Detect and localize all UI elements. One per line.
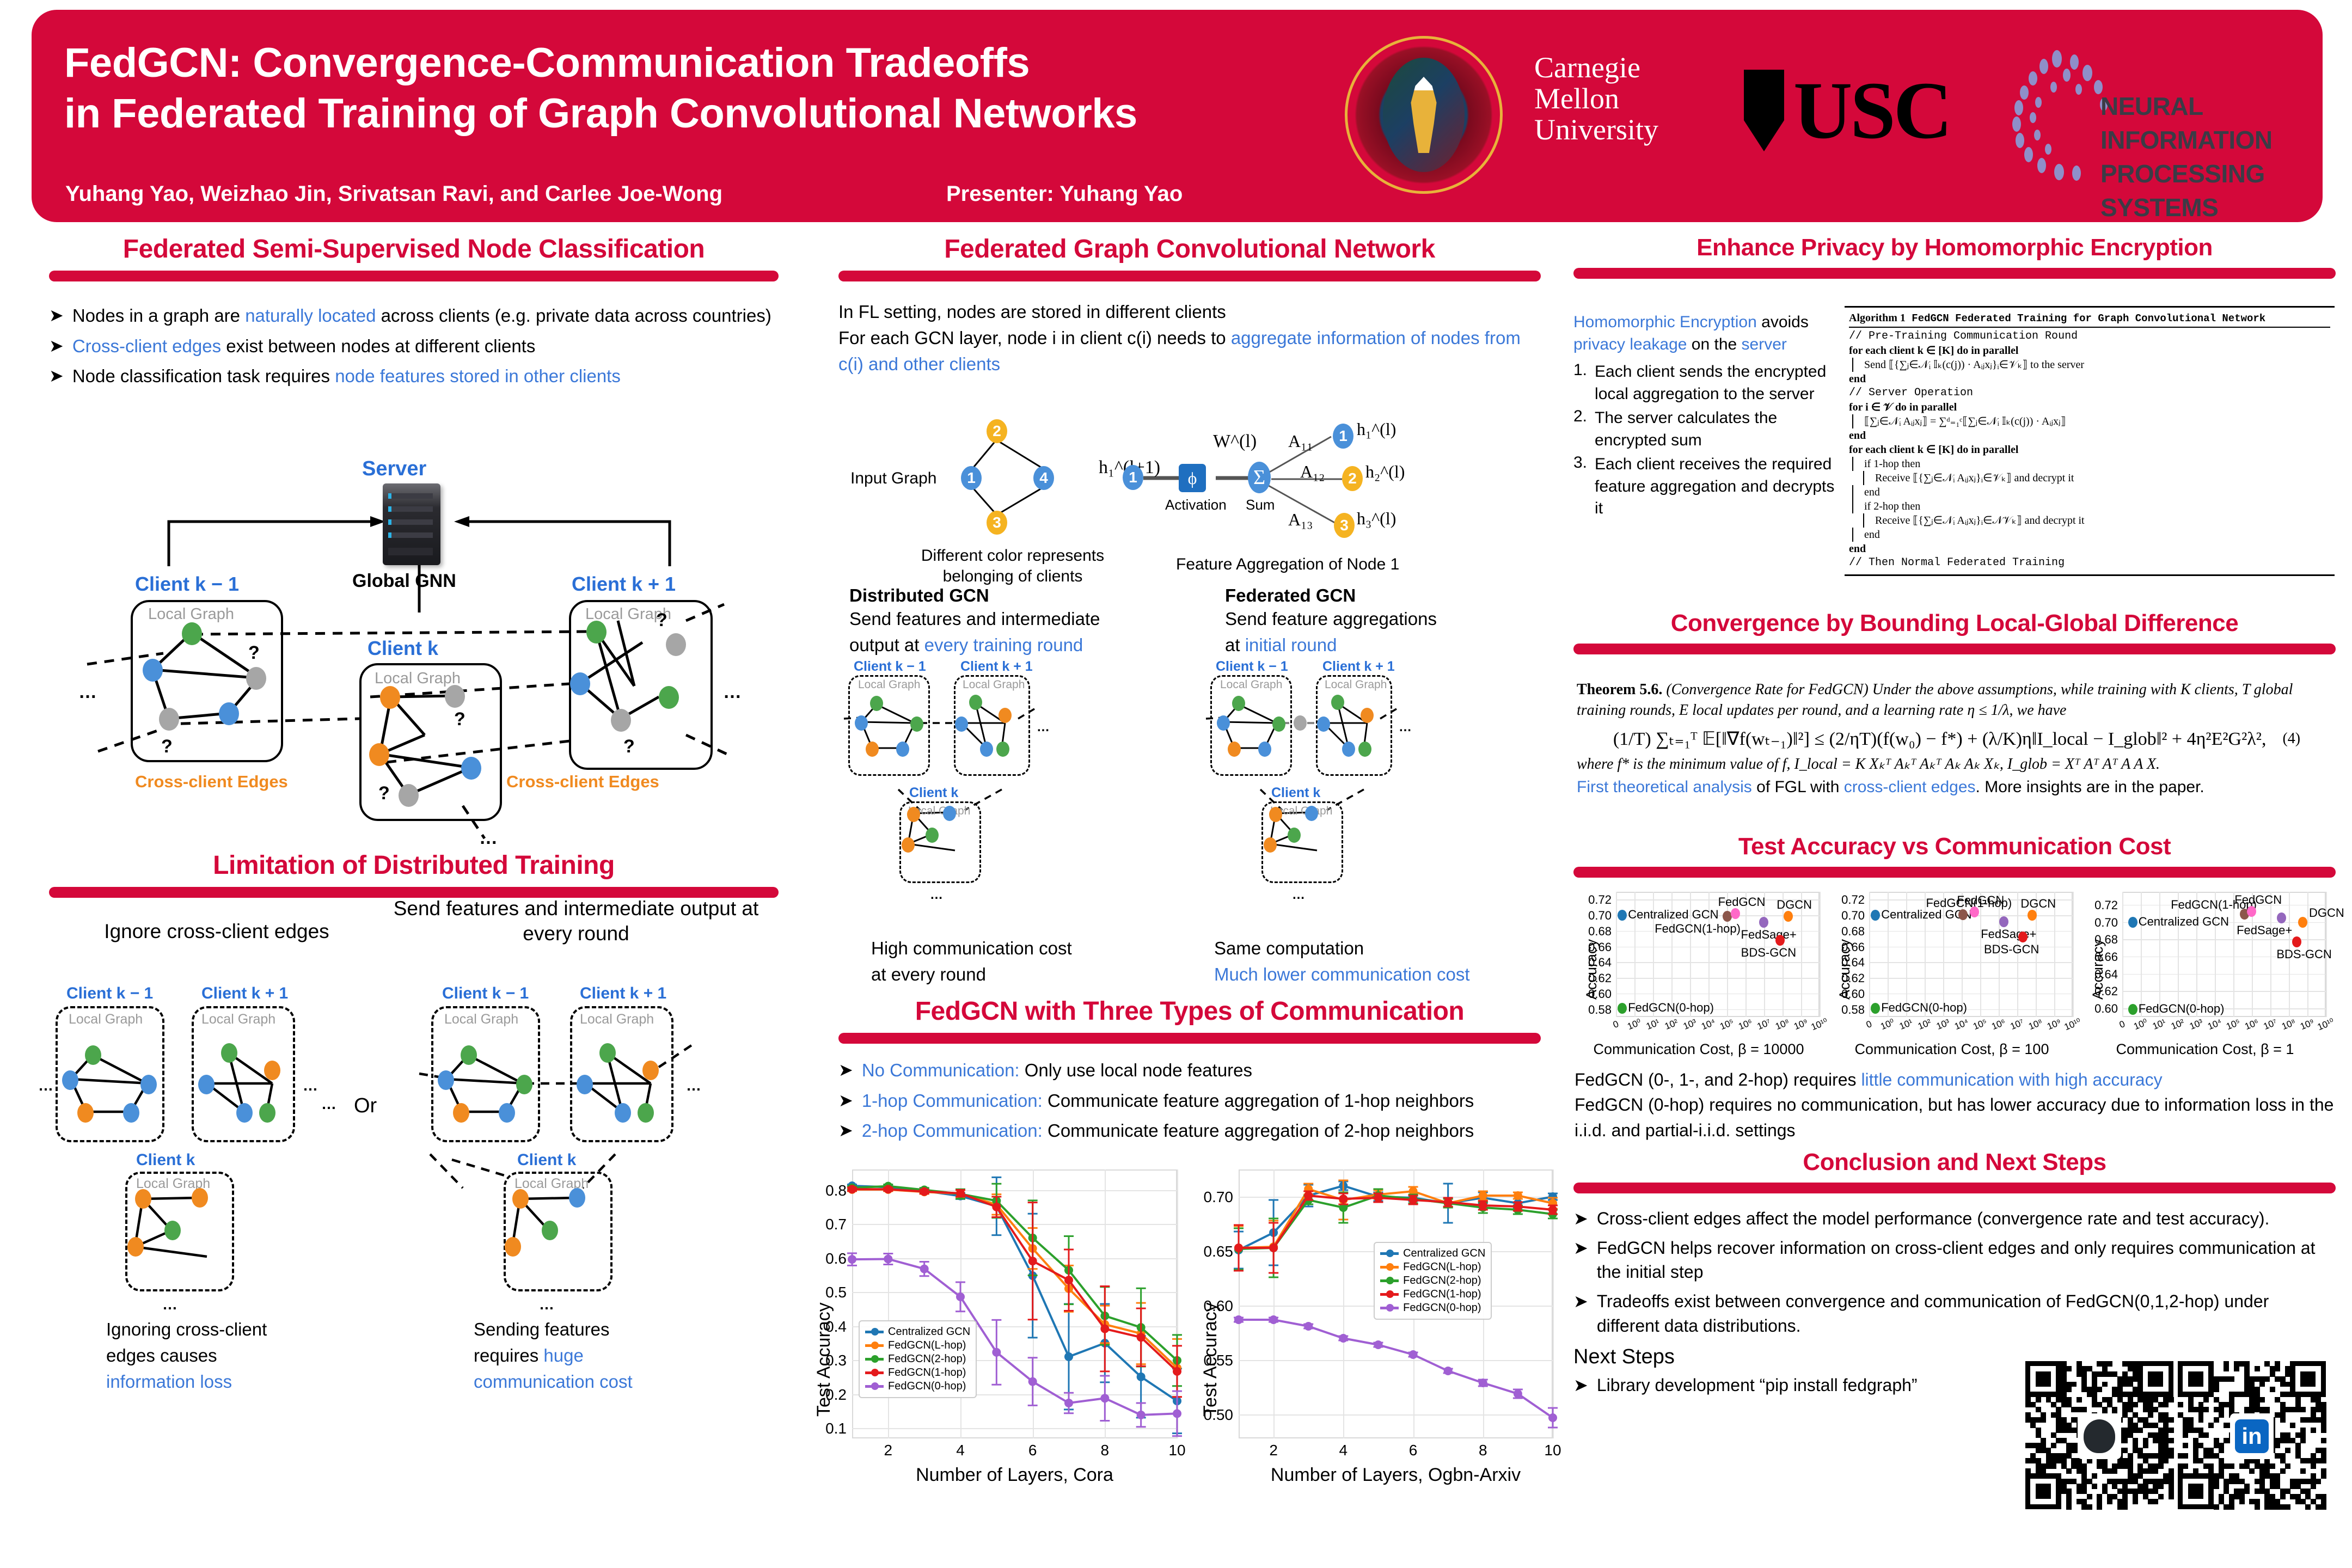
legend-item: Centralized GCN [1380, 1247, 1485, 1260]
weight-label: W^(l) [1213, 431, 1257, 452]
linkedin-icon: in [2230, 1413, 2274, 1459]
graph-node [1342, 742, 1355, 757]
graph-node [246, 667, 266, 690]
gridline-y [2122, 974, 2326, 975]
algorithm-line: end [1849, 428, 2330, 443]
chart-cora: 0.10.20.30.40.50.60.70.8246810Centralize… [800, 1160, 1187, 1497]
gridline-y [1239, 1197, 1553, 1198]
graph-node-aggregated [1294, 715, 1307, 731]
x-tick-label: 10⁰ [1877, 1016, 1897, 1033]
gridline-y [1869, 947, 2073, 948]
algorithm-line: end [1852, 485, 2330, 499]
a12-label: A₁₂ [1300, 462, 1325, 482]
legend-marker [1380, 1252, 1399, 1255]
gridline-y [1616, 978, 1820, 979]
section-title-convergence: Convergence by Bounding Local-Global Dif… [1573, 610, 2336, 637]
graph-node [85, 1045, 101, 1065]
section-divider [838, 271, 1541, 281]
legend-item: FedGCN(L-hop) [1380, 1261, 1485, 1273]
graph-node [135, 1189, 151, 1209]
gridline-y [1239, 1360, 1553, 1361]
gridline-x [1177, 1169, 1178, 1438]
step-number: 3. [1573, 454, 1587, 520]
local-graph-label: Local Graph [1220, 678, 1282, 691]
legend-label: Centralized GCN [1403, 1247, 1485, 1260]
y-tick-label: 0.72 [2080, 898, 2118, 912]
federated-gcn-block: Federated GCN Send feature aggregations … [1225, 585, 1552, 658]
ellipsis: … [162, 1296, 179, 1313]
theorem-block: Theorem 5.6. (Convergence Rate for FedGC… [1577, 679, 2337, 797]
client-label-k-plus-1: Client k + 1 [960, 659, 1033, 675]
list-item: ➤ FedGCN helps recover information on cr… [1573, 1236, 2336, 1284]
algorithm-line: if 1-hop then [1852, 457, 2330, 471]
legend-item: FedGCN(2-hop) [865, 1353, 970, 1365]
gridline-y [1869, 978, 2073, 979]
option-left-heading: Ignore cross-client edges [64, 920, 369, 943]
legend-label: FedGCN(2-hop) [888, 1353, 966, 1365]
legend-marker [865, 1344, 884, 1347]
poster-title-line2: in Federated Training of Graph Convoluti… [64, 89, 1344, 139]
legend-label: FedGCN(2-hop) [1403, 1275, 1481, 1287]
scatter-point-label: BDS-GCN [2276, 947, 2331, 961]
scatter-point-label: BDS-GCN [1741, 946, 1796, 960]
scatter-point-label: FedGCN [1718, 895, 1766, 909]
neurips-wordmark: NEURAL INFORMATION PROCESSING SYSTEMS [2100, 89, 2323, 222]
y-tick-label: 0.68 [1827, 924, 1865, 939]
graph-node [159, 708, 179, 731]
caption-line: edges causes [106, 1343, 335, 1369]
graph-node [870, 696, 883, 711]
gcn-node-3: 3 [987, 511, 1007, 535]
caption-line: Ignoring cross-client [106, 1316, 335, 1343]
ellipsis: … [723, 682, 743, 703]
x-tick-label: 10⁵ [1970, 1016, 1990, 1033]
scatter-point [2128, 917, 2137, 928]
y-axis-label: Accuracy [1836, 939, 1853, 1000]
client-label-k-minus-1: Client k − 1 [66, 984, 153, 1003]
x-tick-label: 10⁷ [1754, 1016, 1774, 1033]
github-icon [2078, 1413, 2121, 1459]
theorem-statement: Theorem 5.6. (Convergence Rate for FedGC… [1577, 679, 2337, 720]
scatter-point-label: FedGCN(1-hop) [1655, 922, 1741, 936]
x-axis-label: Number of Layers, Cora [852, 1465, 1177, 1486]
scatter-point-label: FedGCN [1957, 893, 2004, 908]
scatter-point-label: BDS-GCN [1984, 942, 2039, 957]
theorem-where: where f* is the minimum value of f, I_lo… [1577, 754, 2337, 775]
algorithm-line: Receive ⟦{∑ⱼ∈𝒩ᵢ Aᵢⱼxⱼ}ᵢ∈𝒩𝒱ₖ⟧ and decrypt… [1863, 513, 2330, 528]
algorithm-line: for each client k ∈ [K] do in parallel [1849, 443, 2330, 457]
list-item: ➤ Cross-client edges exist between nodes… [49, 334, 779, 359]
chart-legend: Centralized GCNFedGCN(L-hop)FedGCN(2-hop… [1374, 1242, 1492, 1320]
step-number: 2. [1573, 407, 1587, 451]
client-label-k-plus-1: Client k + 1 [572, 573, 676, 596]
note-line: Same computation [1214, 935, 1557, 961]
cmu-wordmark-logo: Carnegie Mellon University [1534, 52, 1658, 146]
gridline-x [2270, 892, 2271, 1017]
bullet-text-highlight: naturally located [245, 305, 376, 326]
h3-label: h₃^(l) [1357, 509, 1396, 529]
limitation-section: Limitation of Distributed Training [49, 850, 779, 898]
graph-node [638, 1103, 654, 1123]
graph-node [907, 807, 920, 822]
bullet-arrow-icon: ➤ [49, 303, 64, 328]
y-tick-label: 0.65 [1187, 1243, 1233, 1260]
x-tick-label: 10⁶ [2241, 1016, 2262, 1033]
legend-marker [1380, 1293, 1399, 1296]
graph-node [219, 702, 239, 725]
x-tick-label: 10⁶ [1735, 1016, 1755, 1033]
client-label-k-minus-1: Client k − 1 [442, 984, 529, 1003]
graph-node [221, 1043, 237, 1063]
section-divider [1573, 644, 2336, 654]
bullet-text: Only use local node features [1020, 1060, 1252, 1080]
bullet-arrow-icon: ➤ [838, 1118, 853, 1143]
ellipsis: … [321, 1095, 338, 1113]
scatter-point [1784, 911, 1793, 922]
local-graph-label: Local Graph [375, 670, 461, 688]
bullet-text: Communicate feature aggregation of 1-hop… [1043, 1091, 1474, 1111]
list-item: ➤ 1-hop Communication: Communicate featu… [838, 1088, 1541, 1113]
gcn-out-node-1: 1 [1123, 465, 1143, 490]
gcn-in-node-1: 1 [1333, 424, 1353, 449]
list-item: ➤ Cross-client edges affect the model pe… [1573, 1206, 2336, 1230]
legend-marker [865, 1331, 884, 1333]
bullet-arrow-icon: ➤ [49, 364, 64, 389]
gridline-x [2122, 892, 2123, 1017]
sum-node: Σ [1248, 462, 1271, 493]
legend-item: FedGCN(1-hop) [865, 1367, 970, 1379]
gridline-y [852, 1428, 1177, 1429]
gridline-y [1239, 1414, 1553, 1416]
usc-logo: USC [1741, 70, 1950, 151]
gridline-x [1869, 892, 1870, 1017]
fgcn-intro-line2: For each GCN layer, node i in client c(i… [838, 325, 1541, 377]
graph-node [1317, 716, 1330, 732]
federated-gcn-line1: Send feature aggregations [1225, 606, 1552, 632]
graph-node [599, 1043, 616, 1063]
or-label: Or [354, 1094, 377, 1118]
x-tick-label: 10⁷ [2260, 1016, 2280, 1033]
graph-node [569, 1188, 585, 1208]
x-tick-label: 10⁸ [2278, 1016, 2299, 1033]
section-title-limitation: Limitation of Distributed Training [49, 850, 779, 880]
column-1: Federated Semi-Supervised Node Classific… [49, 234, 779, 394]
server-icon [383, 483, 440, 565]
algorithm-line: ⟦∑ⱼ∈𝒩ᵢ Aᵢⱼxⱼ⟧ = ∑ᵈ₌₁ᶜ⟦∑ⱼ∈𝒩ᵢ 𝕀ₖ(c(j)) · A… [1852, 414, 2330, 428]
y-axis-label: Test Accuracy [813, 1303, 835, 1417]
bullet-text-pre: Nodes in a graph are [72, 305, 245, 326]
graph-node [1272, 716, 1285, 732]
gcn-node-4: 4 [1033, 466, 1054, 490]
poster-title: FedGCN: Convergence-Communication Tradeo… [64, 38, 1344, 139]
linkedin-qr-code[interactable]: in [2178, 1361, 2326, 1509]
graph-node [512, 1189, 529, 1209]
h2-label: h₂^(l) [1365, 462, 1405, 482]
graph-node [1264, 837, 1277, 853]
step-number: 1. [1573, 361, 1587, 405]
graph-node [902, 837, 915, 853]
algorithm-line: end [1849, 542, 2330, 556]
x-tick-label: 10 [1165, 1442, 1189, 1459]
gridline-x [1343, 1169, 1344, 1438]
x-tick-label: 10⁰ [1624, 1016, 1644, 1033]
x-tick-label: 10⁹ [2297, 1016, 2317, 1033]
section-divider [1573, 1183, 2336, 1193]
graph-node [123, 1103, 139, 1123]
y-tick-label: 0.70 [2080, 916, 2118, 930]
input-graph-label: Input Graph [850, 469, 936, 488]
graph-node [996, 742, 1009, 757]
graph-node [259, 1103, 275, 1123]
x-tick-label: 8 [1471, 1442, 1495, 1459]
gridline-x [1980, 892, 1981, 1017]
scatter-point-label: FedGCN(0-hop) [1881, 1001, 1967, 1015]
section-divider [49, 271, 779, 281]
distributed-gcn-block: Distributed GCN Send features and interm… [849, 585, 1198, 658]
chart-ogbn-arxiv: 0.500.550.600.650.70246810Centralized GC… [1187, 1160, 1563, 1497]
section-title-three-types: FedGCN with Three Types of Communication [838, 996, 1541, 1026]
x-tick-label: 10⁰ [2130, 1016, 2151, 1033]
scatter-point-label: FedSage+ [1981, 927, 2036, 941]
x-tick-label: 10⁴ [1951, 1016, 1971, 1033]
client-label-k: Client k [136, 1151, 195, 1169]
neurips-logo: NEURAL INFORMATION PROCESSING SYSTEMS [1992, 48, 2323, 184]
legend-label: FedGCN(1-hop) [888, 1367, 966, 1379]
list-item: 1. Each client sends the encrypted local… [1573, 361, 1835, 405]
federated-setting-diagram: Server Global GNN Client k − 1 Local Gra… [65, 457, 773, 838]
x-tick-label: 10⁸ [2025, 1016, 2045, 1033]
x-tick-label: 10¹ [2149, 1016, 2169, 1033]
algorithm-line: for i ∈ 𝒱 do in parallel [1849, 400, 2330, 414]
scatter-point-label: DGCN [1777, 898, 1812, 912]
bullet-arrow-icon: ➤ [1573, 1373, 1588, 1397]
equation-number: (4) [2282, 730, 2300, 748]
x-tick-label: 10 [1541, 1442, 1565, 1459]
chart-cost-beta-1: 0.600.620.640.660.680.700.72010⁰10¹10²10… [2080, 887, 2330, 1067]
note-line: at every round [871, 961, 1209, 988]
x-tick-label: 10³ [1680, 1016, 1700, 1033]
gcn-comparison-diagrams: Client k − 1 Local Graph Client k + 1 Lo… [838, 659, 1546, 909]
graph-node [577, 1075, 593, 1094]
federated-gcn-note: Same computation Much lower communicatio… [1214, 935, 1557, 988]
bullet-arrow-icon: ➤ [1573, 1289, 1588, 1337]
graph-node [445, 685, 465, 708]
limitation-caption-left: Ignoring cross-client edges causes infor… [106, 1316, 335, 1395]
ellipsis: … [1399, 720, 1413, 735]
bullet-text-pre: Node classification task requires [72, 366, 335, 386]
graph-node [955, 716, 968, 732]
local-graph-label: Local Graph [201, 1012, 275, 1027]
local-graph-label: Local Graph [858, 678, 920, 691]
cross-client-edges-label-right: Cross-client Edges [506, 772, 659, 792]
y-tick-label: 0.72 [1827, 893, 1865, 907]
theorem-equation-row: (1/T) ∑ₜ₌₁ᵀ 𝔼[‖∇f(wₜ₋₁)‖²] ≤ (2/ηT)(f(w₀… [1577, 728, 2337, 750]
step-text: Each client receives the required featur… [1595, 454, 1835, 520]
x-tick-label: 10² [1914, 1016, 1934, 1033]
local-graph-label: Local Graph [69, 1012, 143, 1027]
graph-node [77, 1103, 94, 1123]
ellipsis: … [303, 1077, 320, 1094]
graph-node [1331, 695, 1344, 710]
x-tick-label: 10⁴ [1698, 1016, 1718, 1033]
legend-label: FedGCN(1-hop) [1403, 1288, 1481, 1301]
client-label-k-plus-1: Client k + 1 [201, 984, 288, 1003]
x-tick-label: 10⁴ [2204, 1016, 2225, 1033]
list-item: ➤ No Communication: Only use local node … [838, 1058, 1541, 1083]
gridline-y [852, 1224, 1177, 1225]
gridline-y [852, 1190, 1177, 1191]
ellipsis: … [38, 1077, 55, 1094]
gridline-x [960, 1169, 961, 1438]
graph-node [182, 622, 202, 645]
caption-line-highlight: communication cost [474, 1369, 757, 1395]
graph-node [943, 806, 956, 821]
x-tick-label: 10¹ [1643, 1016, 1663, 1033]
graph-node [62, 1070, 78, 1090]
gcn-aggregation-diagram: Input Graph 2 1 4 3 Different color repr… [838, 397, 1546, 593]
x-tick-label: 4 [1331, 1442, 1355, 1459]
cross-client-edges-label-left: Cross-client Edges [135, 772, 288, 792]
section-divider [1573, 268, 2336, 279]
federated-gcn-title: Federated GCN [1225, 585, 1552, 606]
fgcn-intro-line1: In FL setting, nodes are stored in diffe… [838, 299, 1541, 325]
federated-gcn-line2: at [1225, 635, 1245, 655]
algorithm-line: end [1852, 528, 2330, 542]
gridline-x [1820, 892, 1821, 1017]
graph-node [866, 742, 879, 757]
unknown-marker: ? [454, 709, 465, 730]
algorithm-line: // Pre-Training Communication Round [1849, 329, 2330, 344]
graph-node [127, 1237, 144, 1257]
graph-node [499, 1103, 515, 1123]
three-comm-section: FedGCN with Three Types of Communication… [838, 996, 1541, 1149]
legend-marker [1380, 1266, 1399, 1269]
y-tick-label: 0.72 [1573, 893, 1612, 907]
convergence-section: Convergence by Bounding Local-Global Dif… [1573, 610, 2336, 654]
list-item: ➤ Node classification task requires node… [49, 364, 779, 389]
x-tick-label: 2 [1261, 1442, 1285, 1459]
distributed-gcn-title: Distributed GCN [849, 585, 1198, 606]
x-tick-label: 0 [1859, 1016, 1879, 1033]
section-divider [838, 1033, 1541, 1044]
scatter-point-label: Centralized GCN [2139, 915, 2229, 929]
theorem-equation: (1/T) ∑ₜ₌₁ᵀ 𝔼[‖∇f(wₜ₋₁)‖²] ≤ (2/ηT)(f(w₀… [1613, 728, 2267, 750]
accuracy-vs-cost-section: Test Accuracy vs Communication Cost [1573, 833, 2336, 878]
section-title-conclusion: Conclusion and Next Steps [1573, 1149, 2336, 1176]
graph-node [1361, 708, 1374, 723]
col1-bullet-list: ➤ Nodes in a graph are naturally located… [49, 303, 779, 389]
gridline-x [1553, 1169, 1554, 1438]
graph-node [461, 757, 481, 780]
graph-node [666, 633, 686, 656]
federated-gcn-line2-highlight: initial round [1245, 635, 1337, 655]
bullet-arrow-icon: ➤ [838, 1058, 853, 1083]
graph-node [999, 708, 1012, 723]
bullet-text-highlight: 1-hop Communication: [862, 1091, 1043, 1111]
scatter-point [2298, 917, 2307, 928]
gridline-y [1616, 994, 1820, 995]
scatter-point-label: FedGCN(0-hop) [1628, 1001, 1714, 1015]
section-title-accuracy-vs-cost: Test Accuracy vs Communication Cost [1573, 833, 2336, 860]
legend-marker [1380, 1307, 1399, 1309]
client-label-k: Client k [517, 1151, 576, 1169]
scatter-point [2292, 936, 2301, 947]
legend-marker [1380, 1279, 1399, 1282]
a13-label: A₁₃ [1288, 510, 1313, 530]
graph-node [1305, 806, 1318, 821]
list-item: ➤ Nodes in a graph are naturally located… [49, 303, 779, 328]
legend-label: FedGCN(0-hop) [888, 1380, 966, 1393]
graph-node [1269, 807, 1282, 822]
conclusion-text: Cross-client edges affect the model perf… [1597, 1206, 2270, 1230]
y-axis-label: Test Accuracy [1200, 1303, 1221, 1417]
x-tick-label: 10³ [1933, 1016, 1953, 1033]
algorithm-line: Receive ⟦{∑ⱼ∈𝒩ᵢ Aᵢⱼxⱼ}ᵢ∈𝒱ₖ⟧ and decrypt … [1863, 471, 2330, 485]
graph-node [969, 695, 982, 710]
gridline-y [2122, 991, 2326, 992]
bullet-text-highlight: No Communication: [862, 1060, 1020, 1080]
legend-item: FedGCN(L-hop) [865, 1339, 970, 1352]
unknown-marker: ? [656, 610, 667, 631]
he-text-block: Homomorphic Encryption avoids privacy le… [1573, 311, 1835, 520]
scatter-point-label: FedGCN [2234, 893, 2282, 907]
bullet-arrow-icon: ➤ [49, 334, 64, 359]
legend-item: FedGCN(1-hop) [1380, 1288, 1485, 1301]
gridline-x [1616, 892, 1617, 1017]
scatter-point-label: Centralized GCN [1628, 908, 1718, 922]
algorithm-line: end [1849, 372, 2330, 386]
graph-node [980, 742, 993, 757]
graph-node [505, 1237, 521, 1257]
graph-node [615, 1103, 631, 1123]
graph-node [198, 1075, 215, 1094]
column-2: Federated Graph Convolutional Network In… [838, 234, 1541, 377]
h1-label: h₁^(l) [1357, 419, 1396, 439]
y-tick-label: 0.5 [800, 1284, 847, 1301]
note-line: High communication cost [871, 935, 1209, 961]
x-tick-label: 10³ [2186, 1016, 2206, 1033]
github-qr-code[interactable] [2025, 1361, 2173, 1509]
client-label-k-minus-1: Client k − 1 [854, 659, 926, 675]
ellipsis: … [686, 1077, 703, 1094]
scatter-point [2128, 1004, 2137, 1015]
graph-node [611, 709, 631, 732]
list-item: ➤ Tradeoffs exist between convergence an… [1573, 1289, 2336, 1337]
poster-title-line1: FedGCN: Convergence-Communication Tradeo… [64, 38, 1344, 89]
gridline-y [1616, 962, 1820, 963]
gridline-y [852, 1258, 1177, 1259]
scatter-point [1731, 908, 1740, 919]
graph-node [642, 1061, 659, 1080]
graph-node [910, 716, 923, 732]
algorithm-line: // Then Normal Federated Training [1849, 556, 2330, 570]
x-tick-label: 10¹⁰ [2316, 1016, 2336, 1033]
scatter-point-label: FedSage+ [2237, 923, 2292, 938]
client-label-k: Client k [367, 637, 438, 660]
x-tick-label: 6 [1401, 1442, 1425, 1459]
gridline-y [1869, 994, 2073, 995]
algorithm-line: // Server Operation [1849, 386, 2330, 400]
distributed-gcn-line1: Send features and intermediate [849, 606, 1198, 632]
graph-node [453, 1103, 469, 1123]
y-tick-label: 0.60 [2080, 1002, 2118, 1016]
legend-item: Centralized GCN [865, 1326, 970, 1338]
bullet-arrow-icon: ➤ [1573, 1236, 1588, 1284]
gcn-node-1: 1 [961, 466, 982, 490]
legend-label: FedGCN(L-hop) [1403, 1261, 1481, 1273]
client-label-k-minus-1: Client k − 1 [135, 573, 239, 596]
author-list: Yuhang Yao, Weizhao Jin, Srivatsan Ravi,… [65, 182, 722, 206]
